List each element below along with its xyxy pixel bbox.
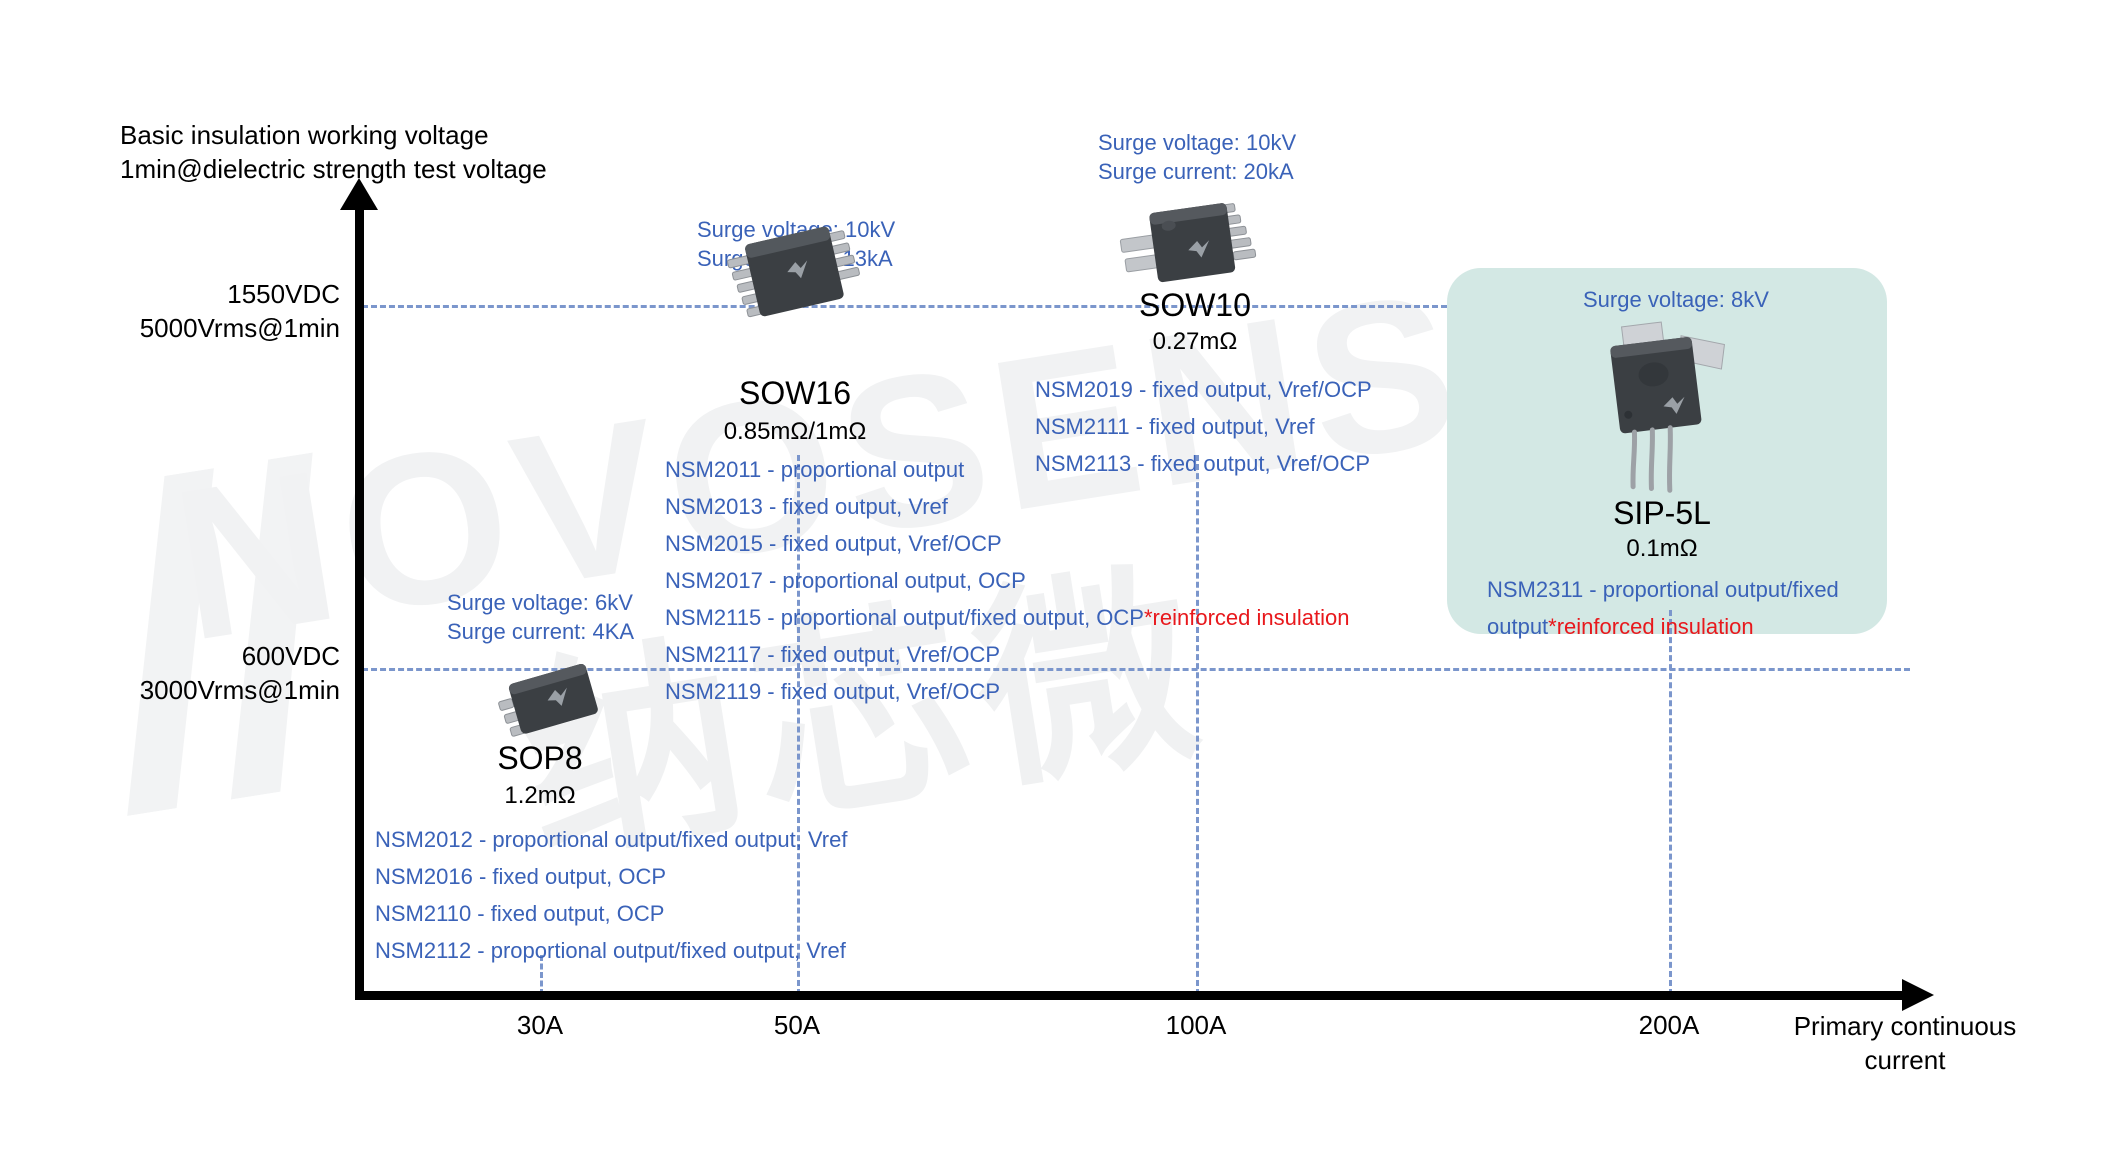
sop8-surge-text: Surge voltage: 6kV Surge current: 4KA [447,588,634,646]
x-axis-title: Primary continuous current [1790,1010,2020,1078]
list-item: output*reinforced insulation [1487,609,1839,646]
sow16-resistance: 0.85mΩ/1mΩ [645,418,945,446]
x-axis-arrow-icon [1902,979,1934,1011]
sip5l-part-list: NSM2311 - proportional output/fixed outp… [1487,572,1839,646]
list-item: NSM2110 - fixed output, OCP [375,896,847,933]
part-text: output [1487,614,1548,639]
sow16-package-image [710,212,885,337]
reinforced-insulation-note: *reinforced insulation [1548,614,1753,639]
y-tick-label-1550vdc: 1550VDC 5000Vrms@1min [20,278,340,346]
sow16-part-list: NSM2011 - proportional output NSM2013 - … [665,452,1349,711]
list-item: NSM2016 - fixed output, OCP [375,859,847,896]
sip5l-package-image [1580,310,1755,510]
list-item: NSM2012 - proportional output/fixed outp… [375,822,847,859]
x-tick-label-100a: 100A [1126,1010,1266,1041]
list-item: NSM2015 - fixed output, Vref/OCP [665,526,1349,563]
list-item: NSM2111 - fixed output, Vref [1035,409,1372,446]
sow10-part-list: NSM2019 - fixed output, Vref/OCP NSM2111… [1035,372,1372,483]
list-item: NSM2117 - fixed output, Vref/OCP [665,637,1349,674]
reinforced-insulation-note: *reinforced insulation [1144,605,1349,630]
x-tick-label-200a: 200A [1599,1010,1739,1041]
list-item: NSM2013 - fixed output, Vref [665,489,1349,526]
x-tick-label-50a: 50A [727,1010,867,1041]
part-text: NSM2115 - proportional output/fixed outp… [665,605,1144,630]
y-tick-label-600vdc: 600VDC 3000Vrms@1min [20,640,340,708]
sip5l-resistance: 0.1mΩ [1512,535,1812,563]
list-item: NSM2019 - fixed output, Vref/OCP [1035,372,1372,409]
gridline-vertical-200a [1669,610,1672,995]
list-item: NSM2112 - proportional output/fixed outp… [375,933,847,970]
sop8-resistance: 1.2mΩ [390,782,690,810]
list-item: NSM2119 - fixed output, Vref/OCP [665,674,1349,711]
list-item: NSM2115 - proportional output/fixed outp… [665,600,1349,637]
y-axis-title: Basic insulation working voltage 1min@di… [120,118,547,187]
sow10-surge-text: Surge voltage: 10kV Surge current: 20kA [1098,128,1296,186]
sow16-package-name: SOW16 [645,375,945,412]
sop8-part-list: NSM2012 - proportional output/fixed outp… [375,822,847,970]
chart-plot-area: Basic insulation working voltage 1min@di… [0,0,2124,1169]
sow10-package-name: SOW10 [1045,287,1345,324]
list-item: NSM2311 - proportional output/fixed [1487,572,1839,609]
y-axis-line [355,205,364,1000]
x-axis-line [355,991,1910,1000]
list-item: NSM2113 - fixed output, Vref/OCP [1035,446,1372,483]
sop8-package-name: SOP8 [390,740,690,777]
sop8-package-image [487,648,612,748]
sow10-resistance: 0.27mΩ [1045,328,1345,356]
list-item: NSM2017 - proportional output, OCP [665,563,1349,600]
x-tick-label-30a: 30A [470,1010,610,1041]
sip5l-package-name: SIP-5L [1512,495,1812,532]
